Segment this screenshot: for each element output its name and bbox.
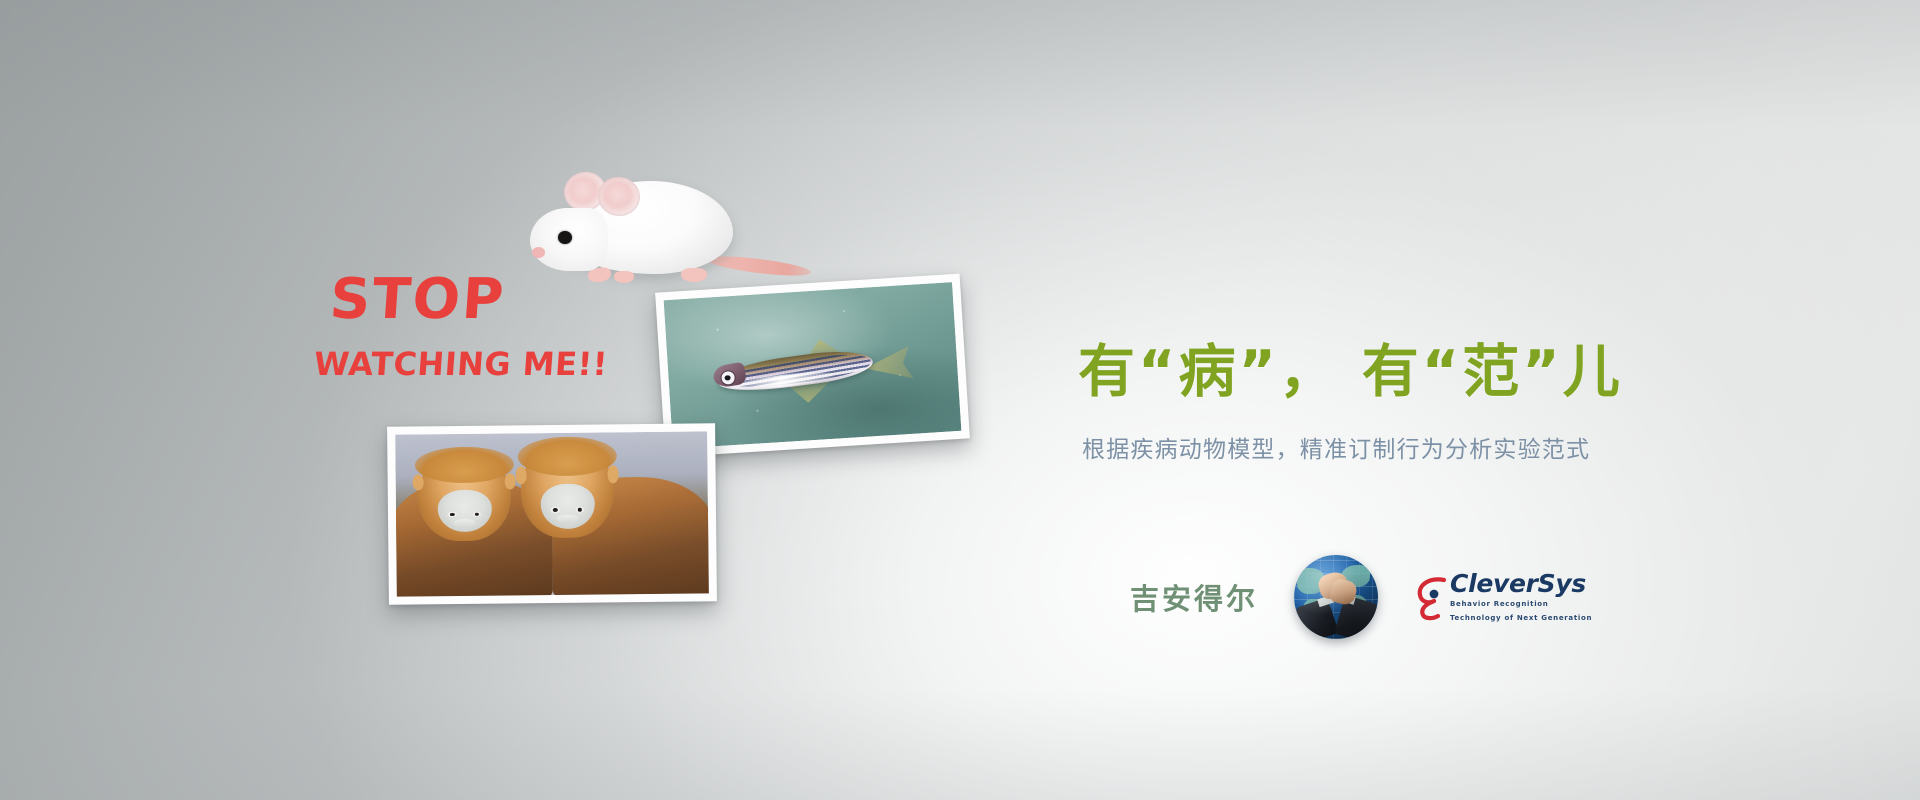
headline-block: 有“病”， 有“范”儿 根据疾病动物模型，精准订制行为分析实验范式	[1078, 342, 1623, 464]
cleversys-tagline-line1: Behavior Recognition	[1450, 599, 1592, 609]
mouse-tail	[707, 253, 812, 279]
slogan-block: STOP WATCHING ME!!	[330, 272, 608, 380]
cleversys-logo[interactable]: CleverSys Behavior Recognition Technolog…	[1414, 571, 1592, 622]
mouse-foot-mid	[614, 271, 635, 283]
globe-handshake-icon[interactable]	[1294, 555, 1378, 639]
monkey-scene-background	[395, 431, 709, 596]
cleversys-swoosh-icon	[1414, 573, 1454, 621]
slogan-stop-text: STOP	[328, 272, 610, 328]
monkey-photo-inner	[395, 431, 709, 596]
globe-gloss	[1294, 555, 1378, 639]
cleversys-text-block: CleverSys Behavior Recognition Technolog…	[1450, 571, 1592, 622]
brand-cn-label[interactable]: 吉安得尔	[1130, 576, 1258, 618]
mouse-eye	[558, 231, 572, 245]
mouse-nose	[532, 247, 545, 258]
cleversys-name: CleverSys	[1450, 571, 1592, 596]
monkey-photo-tone	[395, 431, 709, 596]
banner-stage: STOP WATCHING ME!!	[0, 0, 1920, 800]
page-headline: 有“病”， 有“范”儿	[1078, 342, 1623, 404]
logo-row: 吉安得尔 CleverSys	[1130, 555, 1592, 639]
cleversys-tagline-line2: Technology of Next Generation	[1450, 613, 1592, 623]
mouse-foot-rear	[681, 268, 707, 282]
page-subheadline: 根据疾病动物模型，精准订制行为分析实验范式	[1082, 430, 1623, 464]
monkey-photo[interactable]	[387, 423, 717, 604]
slogan-watching-text: WATCHING ME!!	[313, 348, 609, 380]
